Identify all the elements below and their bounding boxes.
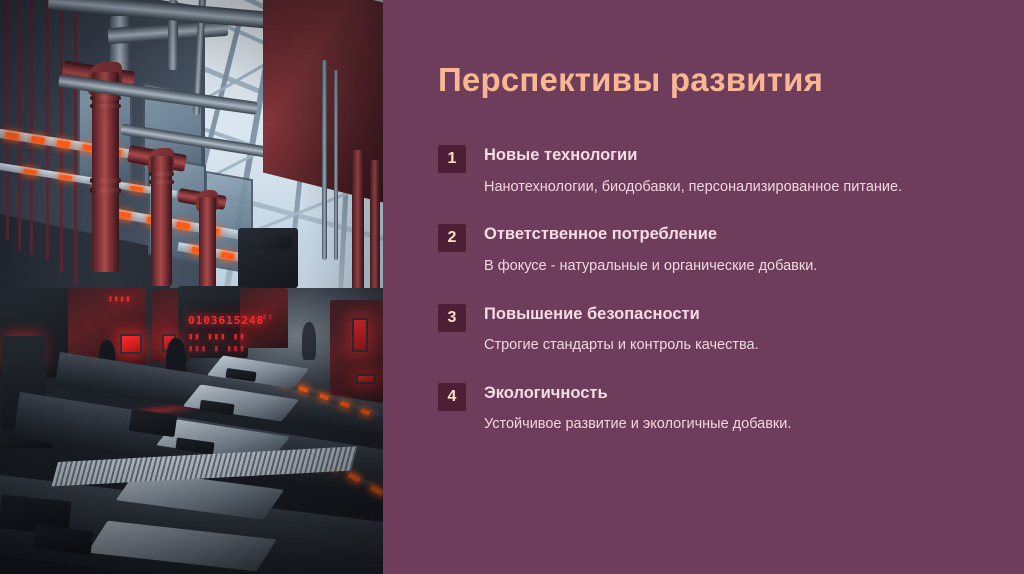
pipe-collar — [149, 180, 174, 184]
wall-mullion — [30, 0, 33, 255]
conduit-right — [322, 60, 327, 260]
red-terminal-screen — [120, 334, 142, 354]
red-matrix-display: 0103615248 — [188, 314, 264, 327]
list-item-body: Повышение безопасности Строгие стандарты… — [484, 303, 964, 358]
industrial-factory-interior-photo: 0103615248 ▮▮ ▮▮▮ ▮▮ ▮▮▮ ▮ ▮▮▮ ▮▮▮▮ ▮▮ — [0, 0, 383, 574]
list-item-body: Экологичность Устойчивое развитие и экол… — [484, 382, 964, 437]
distant-machine-top — [250, 235, 292, 249]
pipe-collar — [90, 96, 121, 100]
list-item: 3 Повышение безопасности Строгие стандар… — [438, 303, 964, 358]
wall-mullion — [6, 0, 9, 240]
list-item: 1 Новые технологии Нанотехнологии, биодо… — [438, 144, 964, 199]
red-indicator-light — [356, 374, 376, 384]
list-item-heading: Повышение безопасности — [484, 303, 964, 325]
wall-mullion — [46, 0, 49, 260]
list-item-body: Ответственное потребление В фокусе - нат… — [484, 223, 964, 278]
pipe-collar — [90, 188, 121, 193]
list-item-heading: Ответственное потребление — [484, 223, 964, 245]
list-item-number-badge: 3 — [438, 304, 466, 332]
pipe-collar — [90, 104, 121, 108]
maroon-pipe-right — [352, 150, 364, 290]
pipe-collar — [149, 172, 174, 176]
slide: 0103615248 ▮▮ ▮▮▮ ▮▮ ▮▮▮ ▮ ▮▮▮ ▮▮▮▮ ▮▮ — [0, 0, 1024, 574]
list-item-description: Нанотехнологии, биодобавки, персонализир… — [484, 176, 916, 200]
list-item-heading: Новые технологии — [484, 144, 964, 166]
list-item: 4 Экологичность Устойчивое развитие и эк… — [438, 382, 964, 437]
page-title: Перспективы развития — [438, 62, 964, 98]
content-panel: Перспективы развития 1 Новые технологии … — [383, 0, 1024, 574]
list-item-description: Строгие стандарты и контроль качества. — [484, 334, 916, 358]
pipe-collar — [90, 178, 121, 183]
list-item-description: В фокусе - натуральные и органические до… — [484, 255, 916, 279]
conduit-right — [334, 70, 338, 260]
list-item-number-badge: 2 — [438, 224, 466, 252]
worker-silhouette — [302, 322, 316, 360]
red-terminal-screen — [352, 318, 368, 352]
list-item-number-badge: 4 — [438, 383, 466, 411]
list-item-description: Устойчивое развитие и экологичные добавк… — [484, 413, 916, 437]
red-machine-cabinet-right — [330, 300, 383, 410]
list-item-heading: Экологичность — [484, 382, 964, 404]
wall-mullion — [18, 0, 21, 250]
perspectives-list: 1 Новые технологии Нанотехнологии, биодо… — [438, 144, 964, 437]
list-item-body: Новые технологии Нанотехнологии, биодоба… — [484, 144, 964, 199]
maroon-pipe-right — [370, 160, 380, 290]
maroon-pipe-vertical — [92, 72, 119, 272]
list-item: 2 Ответственное потребление В фокусе - н… — [438, 223, 964, 278]
list-item-number-badge: 1 — [438, 145, 466, 173]
